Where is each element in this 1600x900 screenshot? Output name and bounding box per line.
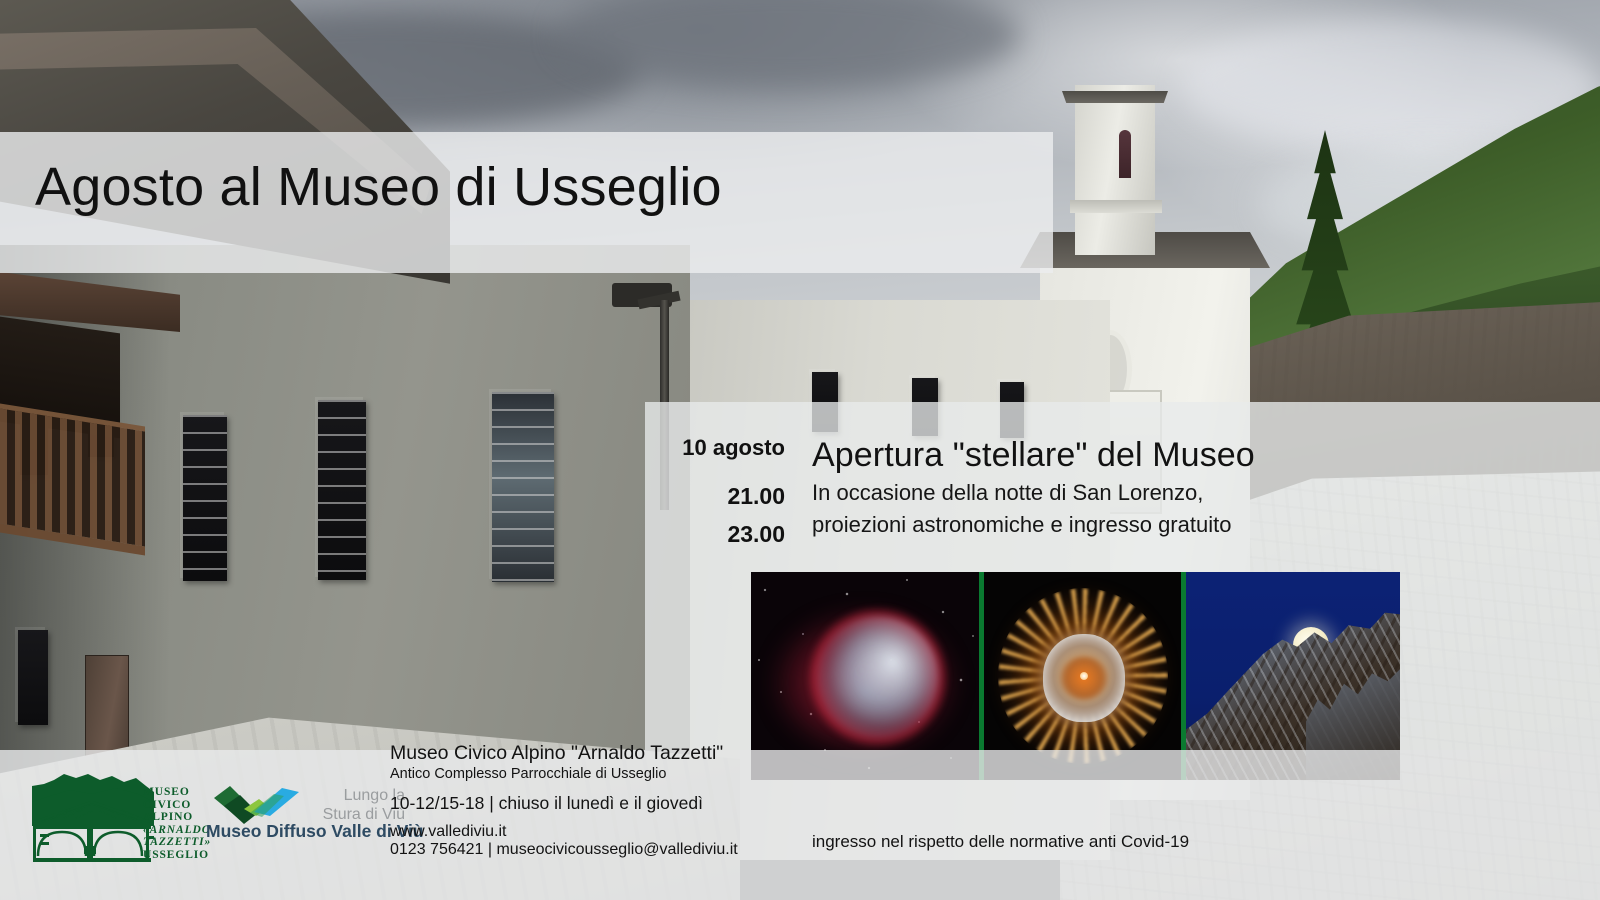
astronomy-image-strip: [751, 572, 1400, 780]
event-description-line-2: proiezioni astronomiche e ingresso gratu…: [812, 512, 1231, 538]
logo-line: «ARNALDO: [143, 824, 211, 837]
window: [318, 400, 366, 580]
title-banner: Agosto al Museo di Usseglio: [0, 132, 1053, 273]
window: [492, 392, 554, 582]
logo-line: TAZZETTI»: [143, 836, 211, 849]
image-eskimo-nebula: [984, 572, 1181, 780]
event-date: 10 agosto: [650, 435, 785, 461]
footer-museum-name: Museo Civico Alpino "Arnaldo Tazzetti": [390, 742, 723, 765]
footer-museum-subtitle: Antico Complesso Parrocchiale di Ussegli…: [390, 766, 666, 782]
window: [18, 630, 48, 725]
logo-line: CIVICO: [143, 799, 211, 812]
image-red-cyan-nebula: [751, 572, 979, 780]
event-description-line-1: In occasione della notte di San Lorenzo,: [812, 480, 1203, 506]
central-star: [1080, 672, 1088, 680]
image-moon-over-mountain: [1186, 572, 1400, 780]
bell-tower-window: [1119, 130, 1131, 178]
event-time-start: 21.00: [650, 483, 785, 510]
footer-website[interactable]: www.vallediviu.it: [390, 823, 506, 841]
bell-tower-band: [1070, 200, 1162, 213]
balcony-railing: [0, 404, 145, 556]
bell-tower: [1075, 85, 1155, 255]
window: [183, 415, 227, 581]
logo-line: ALPINO: [143, 811, 211, 824]
nebula-red-rim: [811, 610, 945, 744]
museo-civico-logo-text: MUSEO CIVICO ALPINO «ARNALDO TAZZETTI» U…: [143, 786, 211, 862]
poster-title: Agosto al Museo di Usseglio: [35, 156, 722, 218]
logo-line: MUSEO: [143, 786, 211, 799]
event-time-end: 23.00: [650, 521, 785, 548]
poster-root: Agosto al Museo di Usseglio 10 agosto 21…: [0, 0, 1600, 900]
footer-covid-notice: ingresso nel rispetto delle normative an…: [812, 832, 1189, 852]
logo-line: USSEGLIO: [143, 849, 211, 862]
event-heading: Apertura "stellare" del Museo: [812, 436, 1255, 475]
footer-contacts[interactable]: 0123 756421 | museocivicousseglio@valled…: [390, 841, 738, 859]
footer-opening-hours: 10-12/15-18 | chiuso il lunedì e il giov…: [390, 793, 703, 814]
